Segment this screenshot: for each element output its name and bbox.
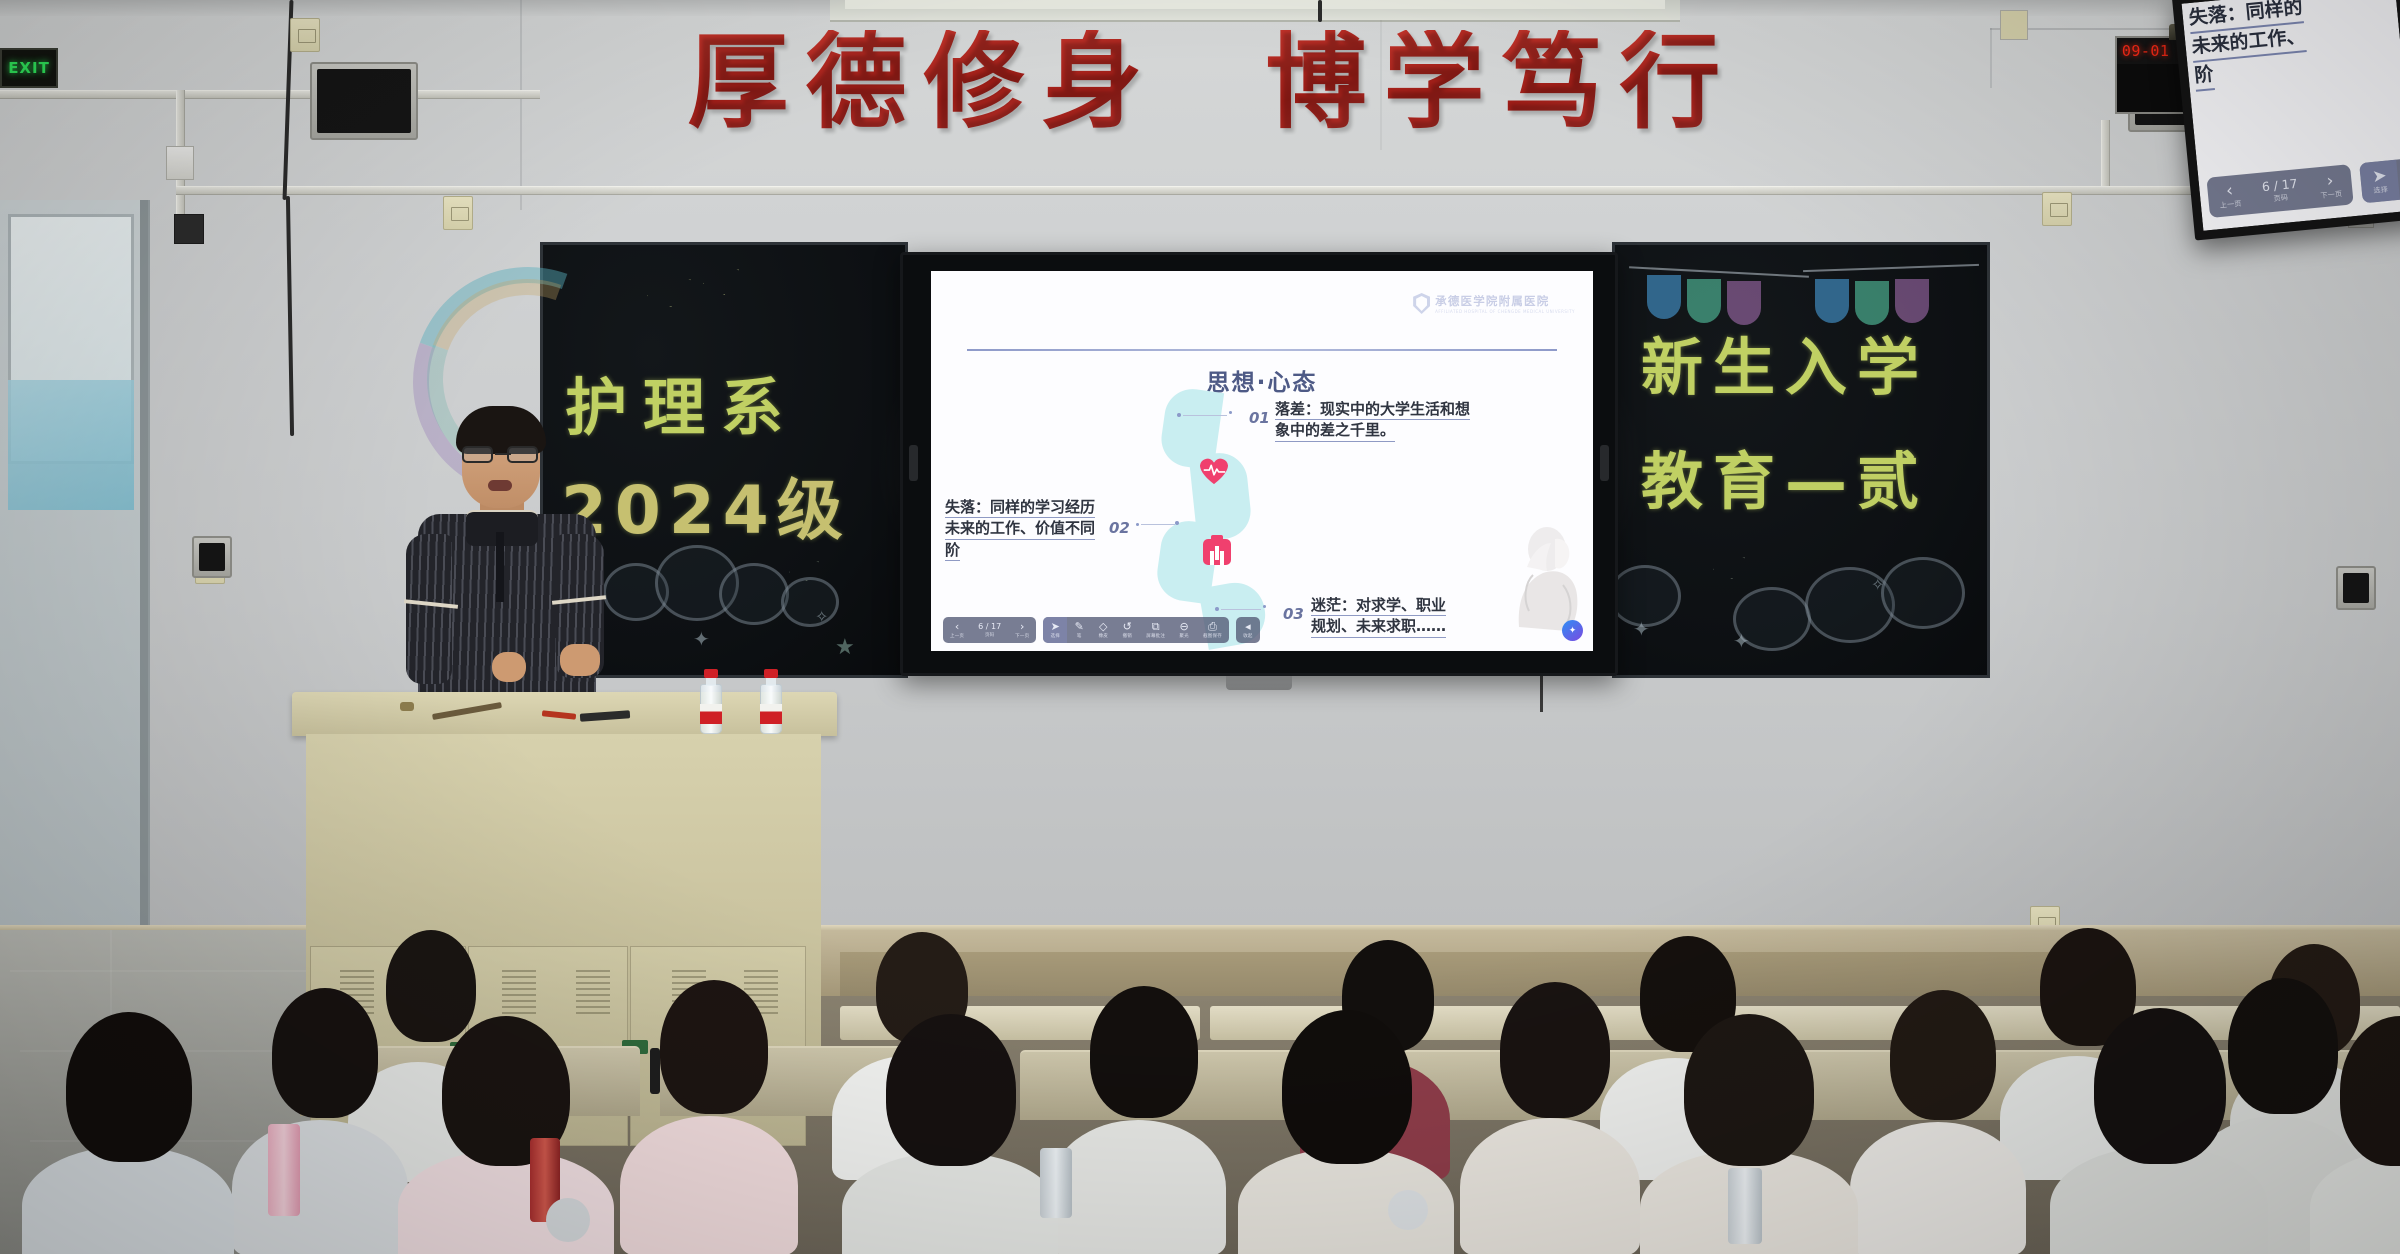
wall-conduit xyxy=(1290,186,2110,195)
shield-icon xyxy=(1413,293,1430,314)
item-line: 象中的差之千里。 xyxy=(1275,420,1395,441)
collapse-toolbar-button[interactable]: ◂ 收起 xyxy=(1236,617,1260,643)
screen-power-cable xyxy=(1540,676,1543,712)
chevron-left-small-icon: ◂ xyxy=(1245,621,1251,632)
wall-seam xyxy=(520,0,522,210)
tools-group[interactable]: ➤ 选择 ✎ 笔 ◇ 橡皮 ↺ 撤销 xyxy=(1043,617,1229,643)
junction-box xyxy=(166,146,194,180)
smartboard-toolbar[interactable]: ‹ 上一页 6 / 17 页码 › 下一页 ➤ 选择 xyxy=(943,617,1260,643)
lead-line xyxy=(1221,609,1261,610)
wall-slogan-left: 厚 德 修 身 xyxy=(686,30,1144,134)
presenter-mouth xyxy=(488,480,512,491)
student-cup xyxy=(1388,1190,1428,1230)
hanging-cable xyxy=(1318,0,1322,22)
logo-text-cn: 承德医学院附属医院 xyxy=(1435,293,1575,309)
student-body xyxy=(620,1116,798,1254)
chevron-right-icon: › xyxy=(1020,621,1024,632)
lead-dot xyxy=(1215,607,1219,611)
power-outlet xyxy=(290,18,320,52)
chevron-left-icon: ‹ xyxy=(2225,182,2233,200)
small-object xyxy=(400,702,414,711)
water-bottle[interactable] xyxy=(760,670,782,734)
slide-divider xyxy=(967,349,1557,351)
confidence-monitor-text: 失落：同样的 未来的工作、 阶 xyxy=(2188,0,2310,92)
lead-line xyxy=(1183,415,1227,416)
wall-slogan: 厚 德 修 身 博 学 笃 行 xyxy=(686,30,1722,134)
student-body xyxy=(1850,1122,2026,1254)
page-nav-group[interactable]: ‹ 上一页 6 / 17 页码 › 下一页 xyxy=(943,617,1036,643)
presenter-placket xyxy=(496,532,504,602)
student-head xyxy=(1684,1014,1814,1166)
item-number: 02 xyxy=(1109,519,1130,537)
slogan-char: 博 xyxy=(1266,30,1367,134)
item-text-03: 迷茫：对求学、职业 规划、未来求职…… xyxy=(1311,595,1446,638)
slogan-char: 行 xyxy=(1620,30,1721,134)
cursor-icon: ➤ xyxy=(2372,167,2388,185)
exit-sign-label: EXIT xyxy=(8,59,50,77)
wall-conduit xyxy=(0,90,540,99)
undo-icon: ↺ xyxy=(1123,621,1132,632)
wall-conduit xyxy=(2101,120,2110,190)
cabinet-handle[interactable] xyxy=(650,1048,660,1094)
classroom-scene: EXIT 09-01 10:43: 厚 德 修 身 博 学 笃 行 xyxy=(0,0,2400,1254)
wall-speaker-small xyxy=(2336,566,2376,610)
item-line: 失落：同样的学习经历 xyxy=(945,497,1095,518)
slogan-char: 厚 xyxy=(688,30,789,134)
exit-sign: EXIT xyxy=(0,48,58,88)
water-bottle[interactable] xyxy=(700,670,722,734)
eraser-icon: ◇ xyxy=(1099,621,1107,632)
student-head xyxy=(886,1014,1016,1166)
junction-box xyxy=(2000,10,2028,40)
item-number: 03 xyxy=(1283,605,1304,623)
student-head xyxy=(660,980,768,1114)
student-body xyxy=(22,1146,234,1254)
tool-spotlight-button[interactable]: ⊖ 聚光 xyxy=(1172,617,1196,643)
student-cup xyxy=(546,1198,590,1242)
cm-page-indicator: 6 / 17 页码 xyxy=(2250,168,2311,214)
slogan-char: 修 xyxy=(924,30,1025,134)
bezel-button-left[interactable] xyxy=(909,445,918,481)
tool-select-button[interactable]: ➤ 选择 xyxy=(1043,617,1067,643)
student-head xyxy=(1282,1010,1412,1164)
tool-annotate-button[interactable]: ⧉ 屏幕批注 xyxy=(1139,617,1172,643)
presenter-hand-right xyxy=(560,644,600,676)
app-badge-icon[interactable]: ✦ xyxy=(1562,620,1583,641)
student-head xyxy=(272,988,378,1118)
item-line: 落差：现实中的大学生活和想 xyxy=(1275,399,1470,420)
confidence-monitor-toolbar[interactable]: ‹ 上一页 6 / 17 页码 › 下一页 ➤ 选择 xyxy=(2206,156,2400,218)
item-text-01: 落差：现实中的大学生活和想 象中的差之千里。 xyxy=(1275,399,1470,442)
chevron-left-icon: ‹ xyxy=(955,621,959,632)
collapse-group[interactable]: ◂ 收起 xyxy=(1236,617,1260,643)
item-line: 迷茫：对求学、职业 xyxy=(1311,595,1446,616)
student-head xyxy=(386,930,476,1042)
student-head xyxy=(1090,986,1198,1118)
cm-next-page-button[interactable]: › 下一页 xyxy=(2307,164,2354,208)
pen-icon: ✎ xyxy=(1075,621,1084,632)
lead-dot xyxy=(1175,521,1179,525)
student-head xyxy=(2228,978,2338,1114)
ceiling-beam-highlight xyxy=(845,0,1665,9)
student-body xyxy=(232,1120,408,1254)
blackboard-right: 新生入学 教育—贰 ✦ ✦ ✧ xyxy=(1612,242,1990,678)
door-jamb xyxy=(140,200,148,930)
lead-line xyxy=(1141,524,1175,525)
slogan-char: 笃 xyxy=(1502,30,1603,134)
wall-conduit xyxy=(176,186,1296,195)
lead-dot xyxy=(1136,523,1139,526)
spotlight-icon: ⊖ xyxy=(1179,621,1188,632)
cursor-icon: ➤ xyxy=(1051,621,1060,632)
student-water-bottle xyxy=(1040,1148,1072,1218)
lead-dot xyxy=(1177,413,1181,417)
prev-page-button[interactable]: ‹ 上一页 xyxy=(943,617,971,643)
smart-board[interactable]: 承德医学院附属医院 AFFILIATED HOSPITAL OF CHENGDE… xyxy=(900,252,1618,676)
power-outlet xyxy=(2042,192,2072,226)
student-head xyxy=(2094,1008,2226,1164)
student-head xyxy=(1500,982,1610,1118)
glasses-icon xyxy=(462,446,540,463)
student-body xyxy=(1460,1118,1640,1254)
logo-text-en: AFFILIATED HOSPITAL OF CHENGDE MEDICAL U… xyxy=(1435,309,1575,314)
presenter xyxy=(404,406,614,706)
door-glass-tint xyxy=(8,380,134,510)
student-body xyxy=(1050,1120,1226,1254)
student-head xyxy=(1890,990,1996,1120)
next-page-button[interactable]: › 下一页 xyxy=(1008,617,1036,643)
presenter-arm-left xyxy=(406,534,452,684)
screen-mount-arm xyxy=(1226,676,1292,690)
chevron-right-icon: › xyxy=(2326,172,2334,190)
screenshot-icon: ⎙ xyxy=(1208,621,1217,632)
student-head xyxy=(66,1012,192,1162)
page-indicator: 6 / 17 页码 xyxy=(971,617,1008,643)
slide-title: 思想·心态 xyxy=(931,363,1593,397)
bezel-button-right[interactable] xyxy=(1600,445,1609,481)
annotate-icon: ⧉ xyxy=(1152,621,1160,632)
item-line: 阶 xyxy=(945,540,960,561)
item-line: 规划、未来求职…… xyxy=(1311,616,1446,637)
first-aid-kit-icon xyxy=(1203,539,1231,565)
organization-logo: 承德医学院附属医院 AFFILIATED HOSPITAL OF CHENGDE… xyxy=(1413,293,1575,314)
slogan-char: 德 xyxy=(806,30,907,134)
wall-slogan-right: 博 学 笃 行 xyxy=(1264,30,1722,134)
wall-speaker xyxy=(310,62,418,140)
tool-eraser-button[interactable]: ◇ 橡皮 xyxy=(1091,617,1115,643)
sitting-thinker-figure xyxy=(1503,523,1589,633)
lead-dot xyxy=(1263,605,1266,608)
tool-undo-button[interactable]: ↺ 撤销 xyxy=(1115,617,1139,643)
tool-pen-button[interactable]: ✎ 笔 xyxy=(1067,617,1091,643)
blackboard-right-line1: 新生入学 xyxy=(1641,317,1929,407)
student-body xyxy=(842,1152,1058,1254)
cm-prev-page-button[interactable]: ‹ 上一页 xyxy=(2206,174,2253,218)
student-water-bottle xyxy=(268,1124,300,1216)
item-number: 01 xyxy=(1249,409,1270,427)
lead-dot xyxy=(1229,411,1232,414)
blackboard-right-line2: 教育—贰 xyxy=(1641,431,1929,521)
cm-line: 阶 xyxy=(2193,61,2215,92)
slogan-char: 学 xyxy=(1384,30,1485,134)
wall-sensor xyxy=(174,214,204,244)
item-text-02: 失落：同样的学习经历 未来的工作、价值不同 阶 xyxy=(945,497,1095,561)
cm-tool-select-button[interactable]: ➤ 选择 xyxy=(2360,160,2400,204)
wall-seam xyxy=(1990,28,1992,88)
slide-canvas[interactable]: 承德医学院附属医院 AFFILIATED HOSPITAL OF CHENGDE… xyxy=(931,271,1593,651)
confidence-monitor[interactable]: 失落：同样的 未来的工作、 阶 ‹ 上一页 6 / 17 页码 › xyxy=(2172,0,2400,241)
tool-screenshot-button[interactable]: ⎙ 截图保存 xyxy=(1196,617,1229,643)
presenter-hand-left xyxy=(492,652,526,682)
slogan-char: 身 xyxy=(1042,30,1143,134)
student-water-bottle xyxy=(1728,1168,1762,1244)
wall-speaker-small xyxy=(192,536,232,578)
power-outlet xyxy=(443,196,473,230)
heart-pulse-icon xyxy=(1199,457,1229,485)
item-line: 未来的工作、价值不同 xyxy=(945,518,1095,539)
confidence-monitor-screen: 失落：同样的 未来的工作、 阶 ‹ 上一页 6 / 17 页码 › xyxy=(2182,0,2400,231)
